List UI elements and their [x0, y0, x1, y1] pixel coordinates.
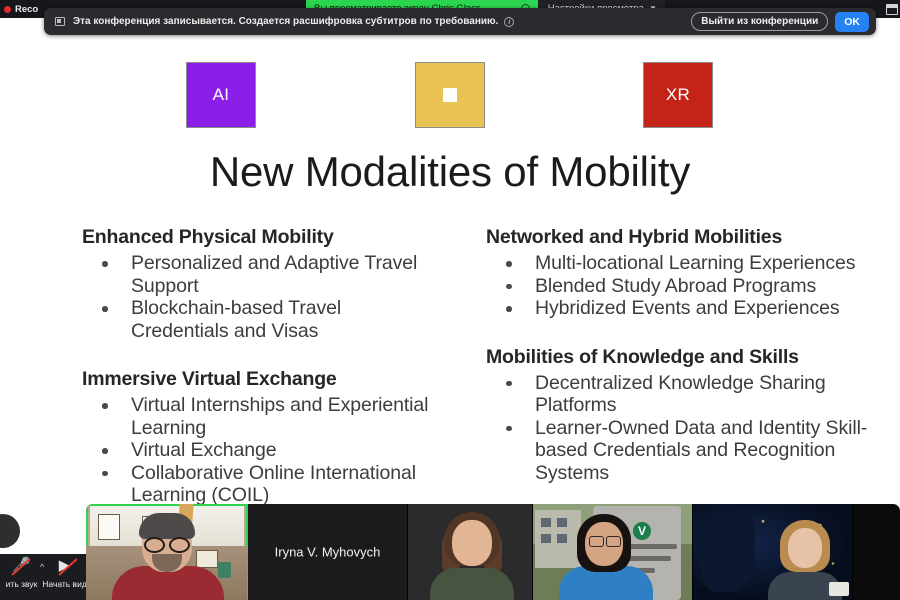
video-tile[interactable]: V — [533, 504, 693, 600]
list-item: Personalized and Adaptive Travel Support — [82, 252, 436, 297]
tile-watermark — [829, 582, 849, 596]
list-item: Virtual Exchange — [82, 439, 436, 462]
xr-tile-label: XR — [666, 85, 690, 105]
start-video-button[interactable]: ▶ Начать вид — [43, 554, 86, 600]
list-item: Blockchain-based Travel Credentials and … — [82, 297, 436, 342]
slide-title: New Modalities of Mobility — [0, 148, 900, 196]
video-tile[interactable] — [408, 504, 533, 600]
ai-tile-label: AI — [213, 85, 230, 105]
recording-notification-bar: Эта конференция записывается. Создается … — [44, 8, 876, 35]
image-placeholder-tile — [415, 62, 485, 128]
slide-column-left: Enhanced Physical Mobility Personalized … — [0, 226, 450, 533]
participant-name: Iryna V. Myhovych — [248, 545, 407, 560]
xr-tile: XR — [643, 62, 713, 128]
participant-video-strip[interactable]: Iryna V. Myhovych V — [86, 504, 900, 600]
block-heading: Mobilities of Knowledge and Skills — [486, 346, 884, 369]
microphone-muted-icon: 🎤 — [12, 558, 31, 574]
list-item: Virtual Internships and Experiential Lea… — [82, 394, 436, 439]
calendar-icon[interactable] — [886, 4, 898, 15]
recording-notification-text: Эта конференция записывается. Создается … — [73, 16, 498, 27]
slide-icon-row: AI XR — [0, 62, 900, 132]
slide-block: Immersive Virtual Exchange Virtual Inter… — [82, 368, 436, 507]
mute-button-label: ить звук — [6, 579, 38, 589]
glasses-icon — [589, 536, 621, 545]
block-point-list: Virtual Internships and Experiential Lea… — [82, 394, 436, 507]
tile-decor — [196, 550, 218, 568]
list-item: Multi-locational Learning Experiences — [486, 252, 884, 275]
participant-body — [430, 568, 514, 600]
block-heading: Networked and Hybrid Mobilities — [486, 226, 884, 249]
slide-block: Mobilities of Knowledge and Skills Decen… — [486, 346, 884, 485]
start-video-button-label: Начать вид — [43, 579, 86, 589]
block-heading: Enhanced Physical Mobility — [82, 226, 436, 249]
recording-label: Reco — [15, 4, 38, 15]
tile-decor — [218, 562, 231, 578]
video-tile[interactable] — [693, 504, 853, 600]
block-point-list: Multi-locational Learning Experiences Bl… — [486, 252, 884, 320]
list-item: Decentralized Knowledge Sharing Platform… — [486, 372, 884, 417]
leave-meeting-button[interactable]: Выйти из конференции — [691, 12, 828, 31]
block-point-list: Decentralized Knowledge Sharing Platform… — [486, 372, 884, 485]
ai-tile: AI — [186, 62, 256, 128]
tile-decor — [541, 518, 551, 527]
tile-decor — [701, 514, 755, 592]
mute-button[interactable]: 🎤 ить звук — [0, 554, 43, 600]
recording-dot-icon — [4, 6, 11, 13]
recording-box-icon — [55, 17, 65, 26]
info-icon[interactable]: i — [504, 17, 514, 27]
list-item: Collaborative Online International Learn… — [82, 462, 436, 507]
participant-face — [788, 528, 822, 568]
block-point-list: Personalized and Adaptive Travel Support… — [82, 252, 436, 342]
video-tile-active-speaker[interactable] — [86, 504, 248, 600]
camera-off-icon: ▶ — [59, 558, 71, 574]
participant-face — [452, 520, 492, 566]
image-placeholder-icon — [443, 88, 457, 102]
chevron-up-icon[interactable]: ^ — [40, 562, 44, 572]
list-item: Blended Study Abroad Programs — [486, 275, 884, 298]
slide-column-right: Networked and Hybrid Mobilities Multi-lo… — [450, 226, 900, 533]
participant-hair — [139, 513, 195, 539]
ok-button[interactable]: OK — [835, 12, 869, 32]
list-item: Learner-Owned Data and Identity Skill-ba… — [486, 417, 884, 485]
tile-decor — [98, 514, 120, 540]
slide-columns: Enhanced Physical Mobility Personalized … — [0, 226, 900, 533]
slide-block: Networked and Hybrid Mobilities Multi-lo… — [486, 226, 884, 320]
slide-block: Enhanced Physical Mobility Personalized … — [82, 226, 436, 342]
glasses-icon — [144, 537, 190, 549]
university-logo-icon: V — [633, 522, 651, 540]
video-tile-camera-off[interactable]: Iryna V. Myhovych — [248, 504, 408, 600]
block-heading: Immersive Virtual Exchange — [82, 368, 436, 391]
meeting-toolbar[interactable]: 🎤 ить звук ▶ Начать вид ^ — [0, 554, 86, 600]
list-item: Hybridized Events and Experiences — [486, 297, 884, 320]
